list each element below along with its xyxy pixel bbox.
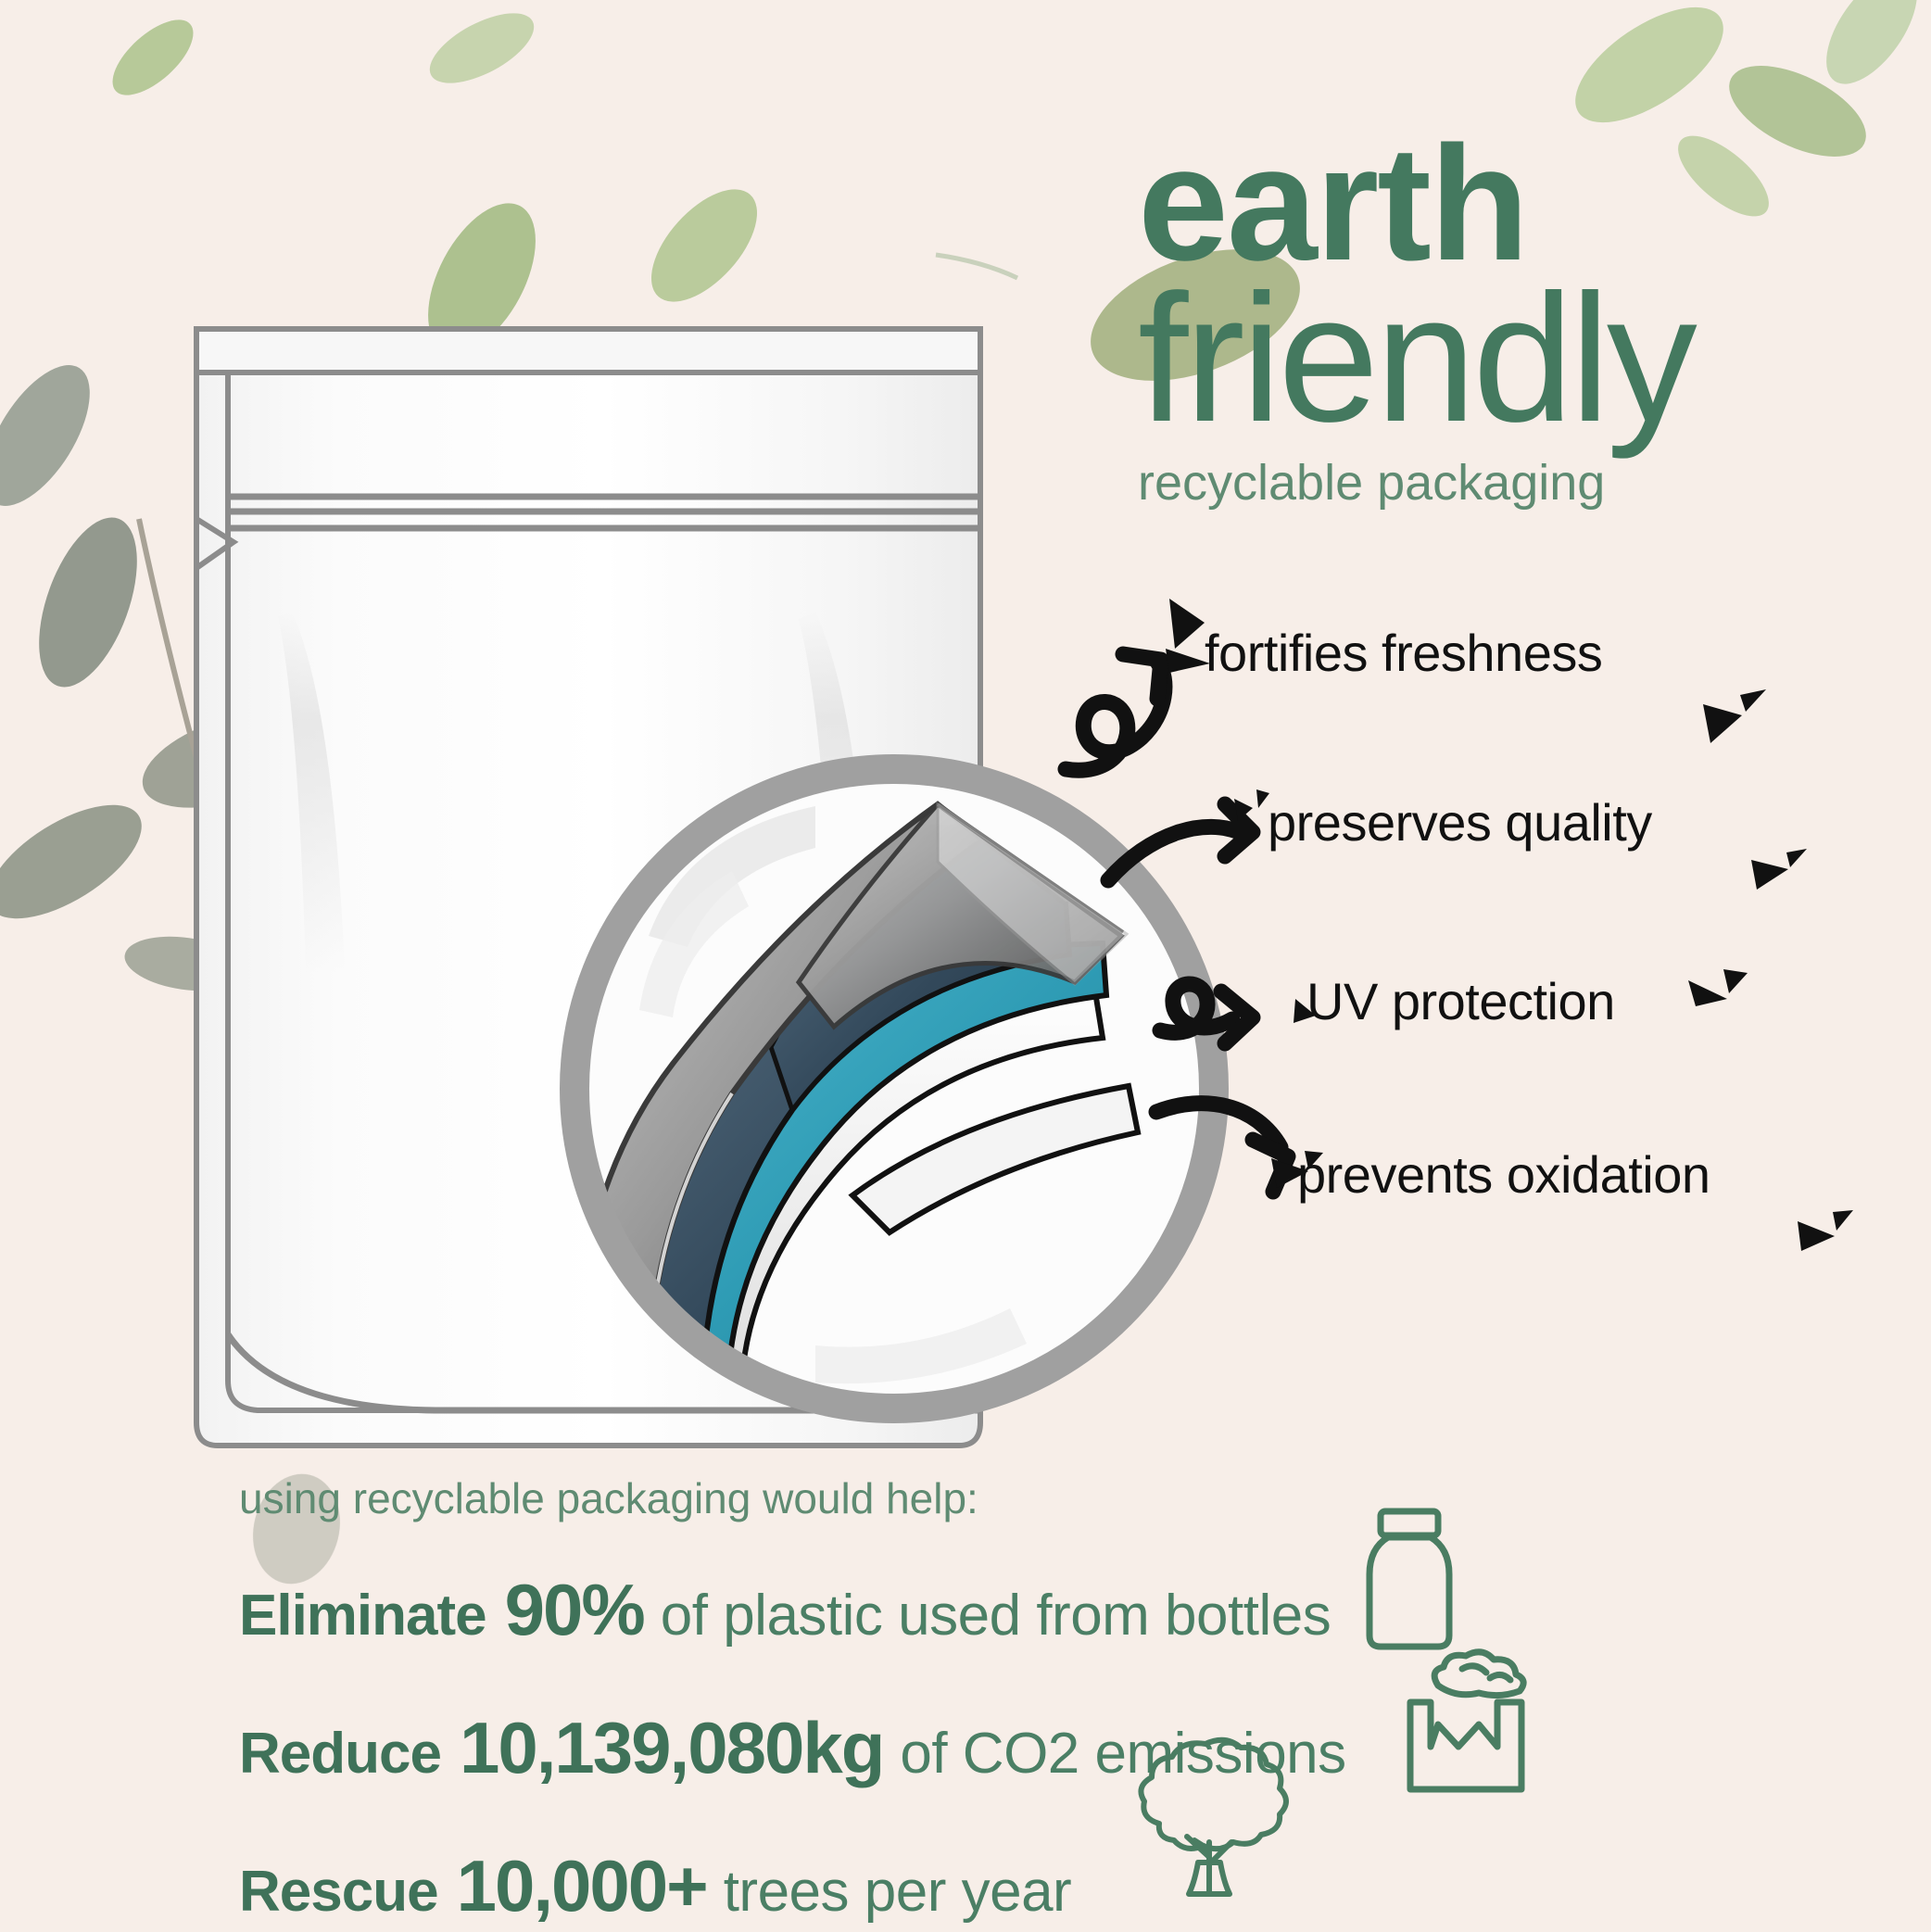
stat-tail: trees per year bbox=[724, 1859, 1072, 1925]
stat-verb: Rescue bbox=[239, 1859, 438, 1925]
stat-verb: Reduce bbox=[239, 1721, 441, 1787]
feature-label-fortifies-freshness: fortifies freshness bbox=[1205, 623, 1602, 683]
stat-value: 90% bbox=[505, 1568, 644, 1652]
feature-label-uv-protection: UV protection bbox=[1306, 971, 1615, 1031]
headline-subtitle: recyclable packaging bbox=[1138, 458, 1916, 508]
sparkle-triangle bbox=[1688, 980, 1727, 1006]
infographic-canvas: earth friendly recyclable packaging fort… bbox=[0, 0, 1931, 1932]
sparkle-triangle bbox=[1703, 704, 1742, 743]
tree-canopy bbox=[1141, 1740, 1286, 1849]
sparkle-triangle bbox=[1798, 1221, 1835, 1251]
sparkle-triangle bbox=[1166, 649, 1210, 673]
stat-value: 10,139,080kg bbox=[460, 1706, 883, 1790]
bottle-cap bbox=[1381, 1511, 1438, 1535]
sparkle-triangle bbox=[1786, 849, 1807, 867]
sparkle-triangle bbox=[1740, 689, 1766, 712]
sparkle-triangle bbox=[1723, 969, 1748, 993]
tree-icon bbox=[1117, 1733, 1302, 1909]
stat-row-rescue: Rescue 10,000+ trees per year bbox=[239, 1844, 1583, 1928]
factory-smoke-swirl bbox=[1490, 1674, 1510, 1680]
sparkle-triangle bbox=[1169, 599, 1205, 649]
stat-row-reduce: Reduce 10,139,080kg of CO2 emissions bbox=[239, 1706, 1583, 1790]
feature-label-preserves-quality: preserves quality bbox=[1268, 792, 1652, 852]
arrow-curly bbox=[1066, 663, 1165, 770]
factory-icon bbox=[1390, 1645, 1538, 1802]
headline-block: earth friendly recyclable packaging bbox=[1138, 130, 1916, 508]
stat-tail: of plastic used from bottles bbox=[661, 1583, 1331, 1648]
factory-smoke bbox=[1434, 1652, 1523, 1696]
stat-verb: Eliminate bbox=[239, 1583, 486, 1648]
factory-smoke-swirl bbox=[1462, 1666, 1486, 1673]
bottle-icon bbox=[1342, 1506, 1481, 1654]
feature-label-prevents-oxidation: prevents oxidation bbox=[1297, 1144, 1710, 1205]
factory-building bbox=[1410, 1702, 1521, 1789]
sparkle-triangle bbox=[1751, 860, 1788, 890]
bottle-body bbox=[1369, 1537, 1449, 1647]
headline-friendly: friendly bbox=[1138, 272, 1916, 445]
sparkle-triangle bbox=[1833, 1210, 1853, 1231]
arrow-head bbox=[1123, 654, 1161, 699]
stat-value: 10,000+ bbox=[457, 1844, 707, 1928]
